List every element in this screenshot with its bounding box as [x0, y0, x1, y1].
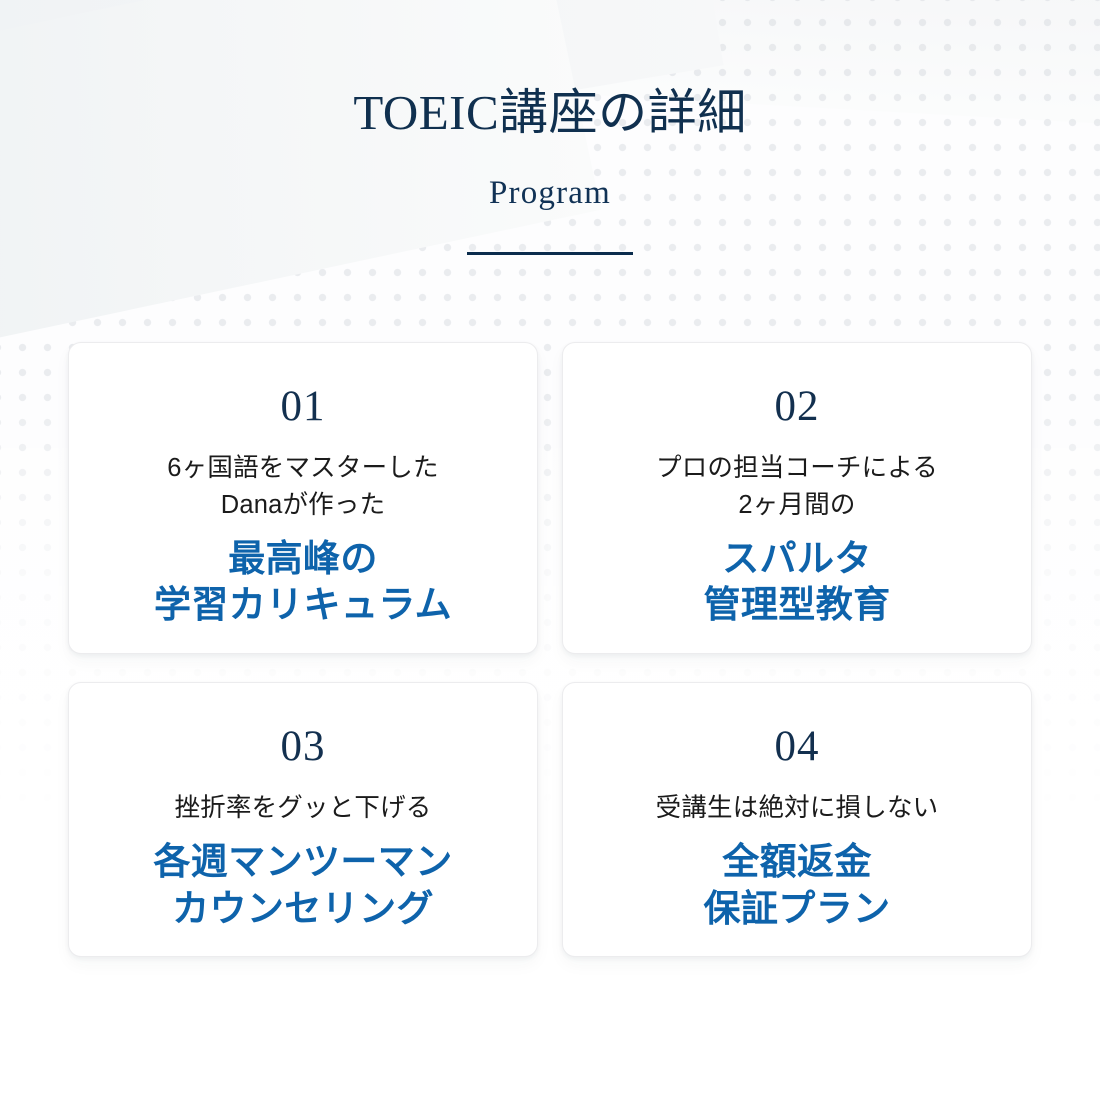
- program-card-grid: 01 6ヶ国語をマスターした Danaが作った 最高峰の 学習カリキュラム 02…: [68, 342, 1032, 957]
- card-headline-line: 保証プラン: [704, 886, 891, 933]
- section-header: TOEIC講座の詳細 Program: [0, 0, 1100, 255]
- program-card-02[interactable]: 02 プロの担当コーチによる 2ヶ月間の スパルタ 管理型教育: [562, 342, 1032, 654]
- card-number: 04: [775, 725, 820, 768]
- card-subtext-line: 6ヶ国語をマスターした: [167, 450, 438, 487]
- card-headline-line: 管理型教育: [704, 582, 891, 629]
- program-card-01[interactable]: 01 6ヶ国語をマスターした Danaが作った 最高峰の 学習カリキュラム: [68, 342, 538, 654]
- card-headline-line: 最高峰の: [154, 536, 452, 583]
- card-subtext-line: 受講生は絶対に損しない: [656, 790, 939, 827]
- card-subtext-line: プロの担当コーチによる: [656, 450, 938, 487]
- card-number: 03: [281, 725, 326, 768]
- card-headline-line: 全額返金: [704, 839, 891, 886]
- card-subtext-line: 挫折率をグッと下げる: [174, 790, 431, 827]
- page-subtitle: Program: [0, 141, 1100, 212]
- page-title: TOEIC講座の詳細: [0, 0, 1100, 141]
- card-subtext: 6ヶ国語をマスターした Danaが作った: [167, 450, 438, 524]
- card-number: 02: [775, 385, 820, 428]
- program-section: TOEIC講座の詳細 Program 01 6ヶ国語をマスターした Danaが作…: [0, 0, 1100, 1110]
- card-headline-line: カウンセリング: [153, 886, 452, 933]
- card-subtext: プロの担当コーチによる 2ヶ月間の: [656, 450, 938, 524]
- card-headline-line: スパルタ: [704, 536, 891, 583]
- card-headline: 全額返金 保証プラン: [704, 839, 891, 932]
- card-headline: スパルタ 管理型教育: [704, 536, 891, 629]
- card-subtext-line: Danaが作った: [167, 487, 438, 524]
- title-divider: [467, 252, 633, 255]
- card-headline: 最高峰の 学習カリキュラム: [154, 536, 452, 629]
- card-subtext-line: 2ヶ月間の: [656, 487, 938, 524]
- card-headline-line: 各週マンツーマン: [153, 839, 452, 886]
- card-number: 01: [281, 385, 326, 428]
- program-card-03[interactable]: 03 挫折率をグッと下げる 各週マンツーマン カウンセリング: [68, 682, 538, 957]
- card-subtext: 挫折率をグッと下げる: [174, 790, 431, 827]
- program-card-04[interactable]: 04 受講生は絶対に損しない 全額返金 保証プラン: [562, 682, 1032, 957]
- card-subtext: 受講生は絶対に損しない: [656, 790, 939, 827]
- card-headline: 各週マンツーマン カウンセリング: [153, 839, 452, 932]
- card-headline-line: 学習カリキュラム: [154, 582, 452, 629]
